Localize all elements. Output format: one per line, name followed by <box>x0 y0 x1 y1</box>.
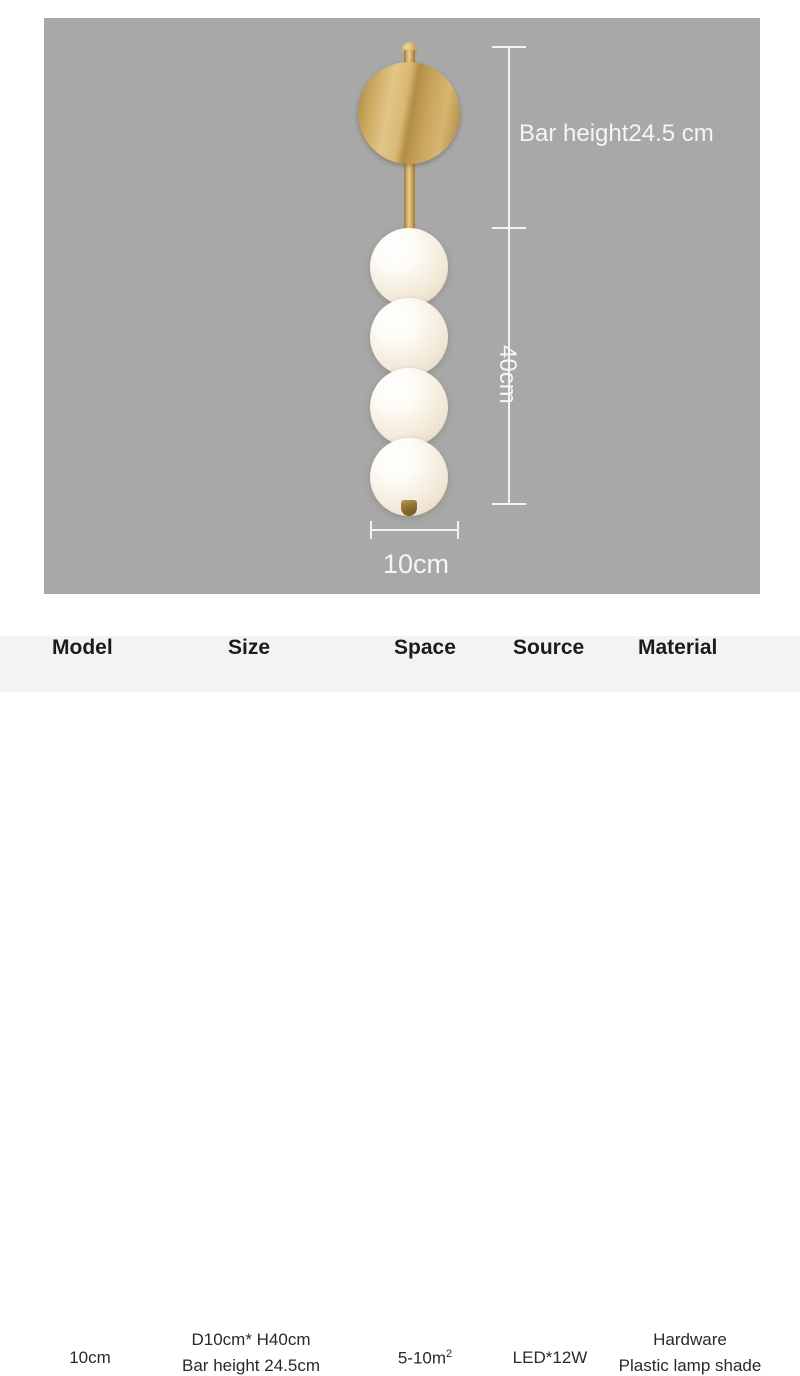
column-header-size: Size <box>228 620 270 676</box>
cell-material-line1: Hardware <box>653 1330 727 1349</box>
product-image-panel: Bar height24.5 cm 40cm 10cm <box>0 0 800 620</box>
cell-size-line2: Bar height 24.5cm <box>158 1356 344 1376</box>
column-header-source: Source <box>513 620 584 676</box>
wall-sconce-illustration <box>0 0 800 620</box>
body-height-dimension-bottom-cap <box>492 503 526 505</box>
cell-space-superscript: 2 <box>446 1348 452 1360</box>
width-dimension-line <box>370 529 459 531</box>
glass-globe <box>370 228 448 306</box>
cell-space-value: 5-10m <box>398 1349 446 1368</box>
cell-size: D10cm* H40cm Bar height 24.5cm <box>158 1330 344 1376</box>
cell-model-value: 10cm <box>69 1348 111 1367</box>
glass-globe <box>370 368 448 446</box>
body-height-dimension-label: 40cm <box>493 345 521 404</box>
cell-space: 5-10m2 <box>372 1348 478 1369</box>
cell-size-line1: D10cm* H40cm <box>191 1330 310 1349</box>
cell-source-value: LED*12W <box>513 1348 588 1367</box>
width-dimension-label: 10cm <box>383 549 449 580</box>
cell-model: 10cm <box>38 1348 142 1368</box>
column-header-model: Model <box>52 620 113 676</box>
cell-material-line2: Plastic lamp shade <box>590 1356 790 1376</box>
glass-globe <box>370 298 448 376</box>
width-dimension-right-cap <box>457 521 459 539</box>
bar-height-dimension-line <box>508 46 510 228</box>
bar-height-dimension-label: Bar height24.5 cm <box>519 120 714 148</box>
bottom-brass-finial <box>401 500 417 516</box>
brass-backplate-disc <box>358 62 460 164</box>
specification-table: Model Size Space Source Material 10cm D1… <box>0 620 800 800</box>
column-header-space: Space <box>394 620 456 676</box>
cell-material: Hardware Plastic lamp shade <box>590 1330 790 1376</box>
column-header-material: Material <box>638 620 717 676</box>
